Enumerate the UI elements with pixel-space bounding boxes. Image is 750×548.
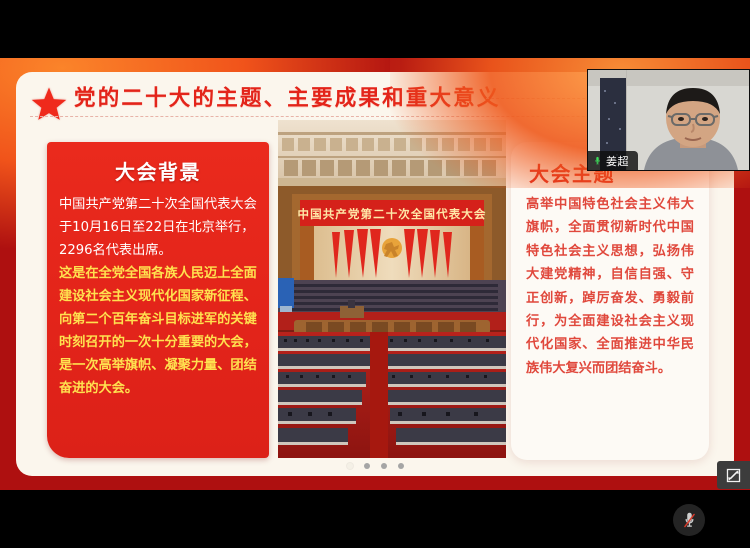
meeting-screen: 党的二十大的主题、主要成果和重大意义 大会背景 中国共产党第二十次全国代表大会于… [0, 0, 750, 548]
participant-video-tile[interactable]: 姜超 [587, 69, 750, 171]
slide-title: 党的二十大的主题、主要成果和重大意义 [74, 81, 501, 112]
panel-meeting-theme: 大会主题 高举中国特色社会主义伟大旗帜，全面贯彻新时代中国特色社会主义思想，弘扬… [511, 142, 709, 460]
carousel-dot-1[interactable] [347, 463, 353, 469]
panel-left-paragraph-highlight: 这是在全党全国各族人民迈上全面建设社会主义现代化国家新征程、向第二个百年奋斗目标… [59, 262, 257, 400]
expand-diagonal-icon [725, 467, 742, 484]
carousel-dot-3[interactable] [381, 463, 387, 469]
congress-banner-text: 中国共产党第二十次全国代表大会 [298, 207, 487, 221]
participant-name-chip: 姜超 [588, 151, 638, 170]
microphone-muted-icon [681, 511, 698, 530]
panel-right-paragraph: 高举中国特色社会主义伟大旗帜，全面贯彻新时代中国特色社会主义思想，弘扬伟大建党精… [511, 193, 709, 380]
panel-meeting-background: 大会背景 中国共产党第二十次全国代表大会于10月16日至22日在北京举行，229… [47, 142, 269, 458]
carousel-dot-4[interactable] [398, 463, 404, 469]
five-pointed-star-icon [30, 85, 68, 123]
panel-left-paragraph-white: 中国共产党第二十次全国代表大会于10月16日至22日在北京举行，2296名代表出… [59, 193, 257, 262]
microphone-active-icon [593, 155, 602, 167]
mic-toggle-button[interactable] [673, 504, 705, 536]
panel-left-heading: 大会背景 [47, 156, 269, 185]
participant-name: 姜超 [606, 153, 629, 169]
congress-hall-photo: 中国共产党第二十次全国代表大会 [278, 120, 506, 458]
carousel-dot-2[interactable] [364, 463, 370, 469]
resize-share-handle[interactable] [717, 461, 750, 489]
congress-hall-photo-art: 中国共产党第二十次全国代表大会 [278, 120, 506, 458]
panel-left-body: 中国共产党第二十次全国代表大会于10月16日至22日在北京举行，2296名代表出… [47, 193, 269, 400]
carousel-dots[interactable] [16, 463, 734, 469]
